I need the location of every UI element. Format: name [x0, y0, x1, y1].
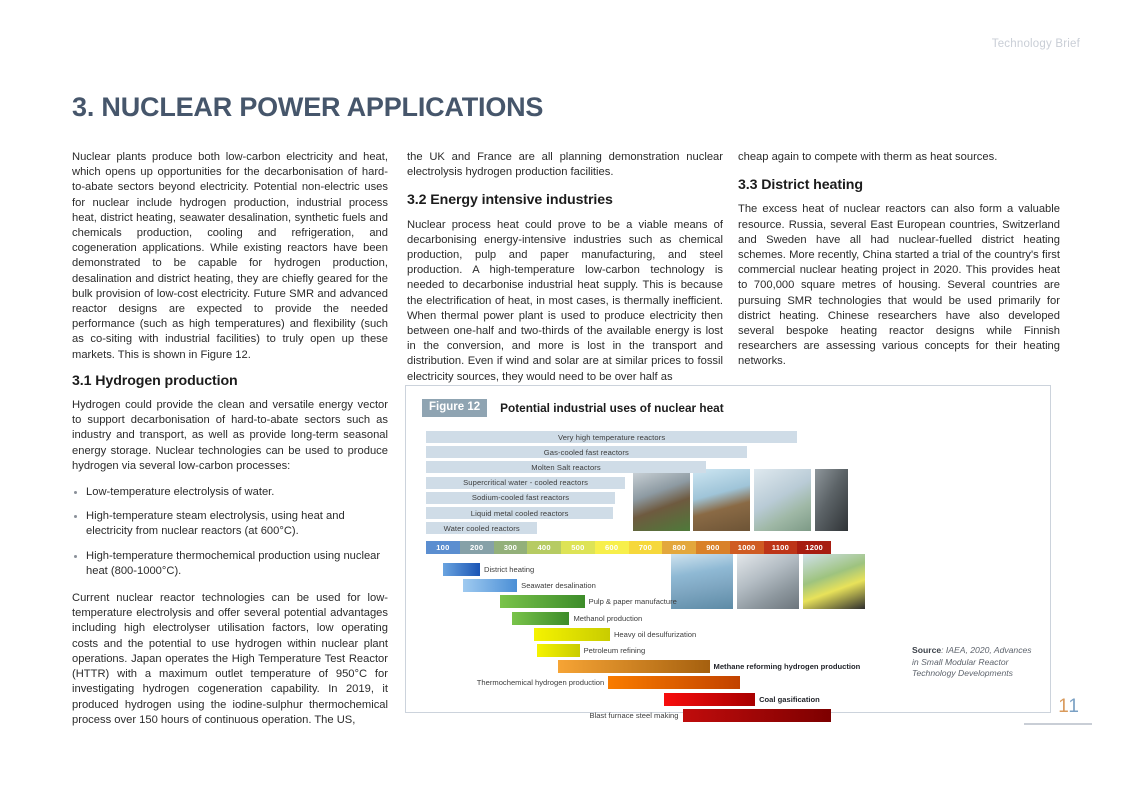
running-header: Technology Brief	[992, 38, 1080, 50]
list-item: High-temperature thermochemical producti…	[72, 549, 388, 579]
process-bar-label: Methanol production	[573, 612, 642, 625]
scale-segment: 300	[494, 541, 528, 554]
reactor-bar-label: Molten Salt reactors	[531, 463, 601, 472]
scale-tick-label: 900	[706, 543, 719, 552]
reactor-bar: Molten Salt reactors	[426, 461, 706, 473]
hydrogen-process-list: Low-temperature electrolysis of water. H…	[72, 485, 388, 579]
text-column-1: Nuclear plants produce both low-carbon e…	[72, 150, 388, 739]
scale-tick-label: 600	[605, 543, 618, 552]
reactor-bar-label: Water cooled reactors	[444, 524, 520, 533]
reactor-bar-label: Liquid metal cooled reactors	[471, 509, 569, 518]
scale-segment: 200	[460, 541, 494, 554]
process-bar-label: Heavy oil desulfurization	[614, 628, 696, 641]
process-bar-label: Methane reforming hydrogen production	[714, 660, 861, 673]
reactor-bar-label: Sodium-cooled fast reactors	[472, 493, 569, 502]
reactor-photo-3	[754, 469, 811, 531]
scale-tick-label: 1100	[772, 543, 789, 552]
process-bar-label: Seawater desalination	[521, 579, 596, 592]
document-page: Technology Brief 3. NUCLEAR POWER APPLIC…	[0, 0, 1122, 793]
paragraph-continued: cheap again to compete with therm as hea…	[738, 150, 1060, 165]
reactor-bar-label: Gas-cooled fast reactors	[544, 448, 629, 457]
scale-segment: 500	[561, 541, 595, 554]
scale-tick-label: 200	[470, 543, 483, 552]
industry-photo-1	[671, 554, 733, 609]
scale-tick-label: 100	[436, 543, 449, 552]
scale-tick-label: 1200	[805, 543, 823, 552]
scale-segment: 100	[426, 541, 460, 554]
heading-3-3: 3.3 District heating	[738, 178, 1060, 193]
reactor-bar-label: Very high temperature reactors	[558, 433, 665, 442]
scale-segment: 400	[527, 541, 561, 554]
reactor-photo-4	[815, 469, 848, 531]
paragraph-district-heating: The excess heat of nuclear reactors can …	[738, 202, 1060, 369]
list-item: High-temperature steam electrolysis, usi…	[72, 509, 388, 539]
text-column-3: cheap again to compete with therm as hea…	[738, 150, 1060, 381]
reactor-bar: Very high temperature reactors	[426, 431, 797, 443]
page-number-digit: 1	[1068, 696, 1080, 717]
paragraph-current-tech: Current nuclear reactor technologies can…	[72, 591, 388, 728]
scale-segment: 1100	[764, 541, 798, 554]
text-column-2: the UK and France are all planning demon…	[407, 150, 723, 396]
page-number-rule	[1024, 723, 1092, 725]
process-bar	[534, 628, 610, 641]
scale-segment: 1200	[797, 541, 831, 554]
figure-source: Source: IAEA, 2020, Advances in Small Mo…	[912, 645, 1036, 680]
reactor-photo-2	[693, 469, 750, 531]
heading-3-2: 3.2 Energy intensive industries	[407, 193, 723, 208]
scale-tick-label: 500	[571, 543, 584, 552]
scale-tick-label: 400	[537, 543, 550, 552]
page-number-digit: 1	[1058, 696, 1068, 717]
process-bar	[463, 579, 517, 592]
scale-tick-label: 700	[639, 543, 652, 552]
reactor-bar: Water cooled reactors	[426, 522, 537, 534]
process-bar-label: District heating	[484, 563, 534, 576]
scale-segment: 700	[629, 541, 663, 554]
reactor-bar: Liquid metal cooled reactors	[426, 507, 613, 519]
scale-tick-label: 300	[504, 543, 517, 552]
process-bar	[558, 660, 710, 673]
reactor-bar-label: Supercritical water - cooled reactors	[463, 478, 588, 487]
reactor-bar: Sodium-cooled fast reactors	[426, 492, 615, 504]
process-bar	[664, 693, 755, 706]
process-bar-label: Coal gasification	[759, 693, 820, 706]
process-bar	[683, 709, 832, 722]
scale-segment: 600	[595, 541, 629, 554]
process-bar	[512, 612, 569, 625]
scale-segment: 900	[696, 541, 730, 554]
reactor-bar: Gas-cooled fast reactors	[426, 446, 747, 458]
temperature-scale: 100200300400500600700800900100011001200	[426, 541, 831, 554]
industry-photo-2	[737, 554, 799, 609]
heading-3-1: 3.1 Hydrogen production	[72, 374, 388, 389]
industry-photo-3	[803, 554, 865, 609]
process-bar	[443, 563, 480, 576]
paragraph-continued: the UK and France are all planning demon…	[407, 150, 723, 180]
process-bar-label: Pulp & paper manufacture	[589, 595, 677, 608]
scale-segment: 800	[662, 541, 696, 554]
scale-tick-label: 1000	[738, 543, 756, 552]
scale-segment: 1000	[730, 541, 764, 554]
reactor-bar: Supercritical water - cooled reactors	[426, 477, 625, 489]
process-bar	[537, 644, 579, 657]
scale-tick-label: 800	[672, 543, 685, 552]
process-bar-label: Thermochemical hydrogen production	[477, 676, 604, 689]
page-title: 3. NUCLEAR POWER APPLICATIONS	[72, 92, 543, 123]
paragraph-hydrogen: Hydrogen could provide the clean and ver…	[72, 398, 388, 474]
process-bar-label: Petroleum refining	[584, 644, 646, 657]
paragraph-intro: Nuclear plants produce both low-carbon e…	[72, 150, 388, 363]
list-item: Low-temperature electrolysis of water.	[72, 485, 388, 500]
process-bar	[608, 676, 740, 689]
process-bar-label: Blast furnace steel making	[589, 709, 678, 722]
reactor-photo-1	[633, 469, 690, 531]
page-number: 11	[1058, 696, 1080, 718]
process-bar	[500, 595, 584, 608]
paragraph-energy-industries: Nuclear process heat could prove to be a…	[407, 218, 723, 385]
source-label: Source	[912, 645, 941, 655]
